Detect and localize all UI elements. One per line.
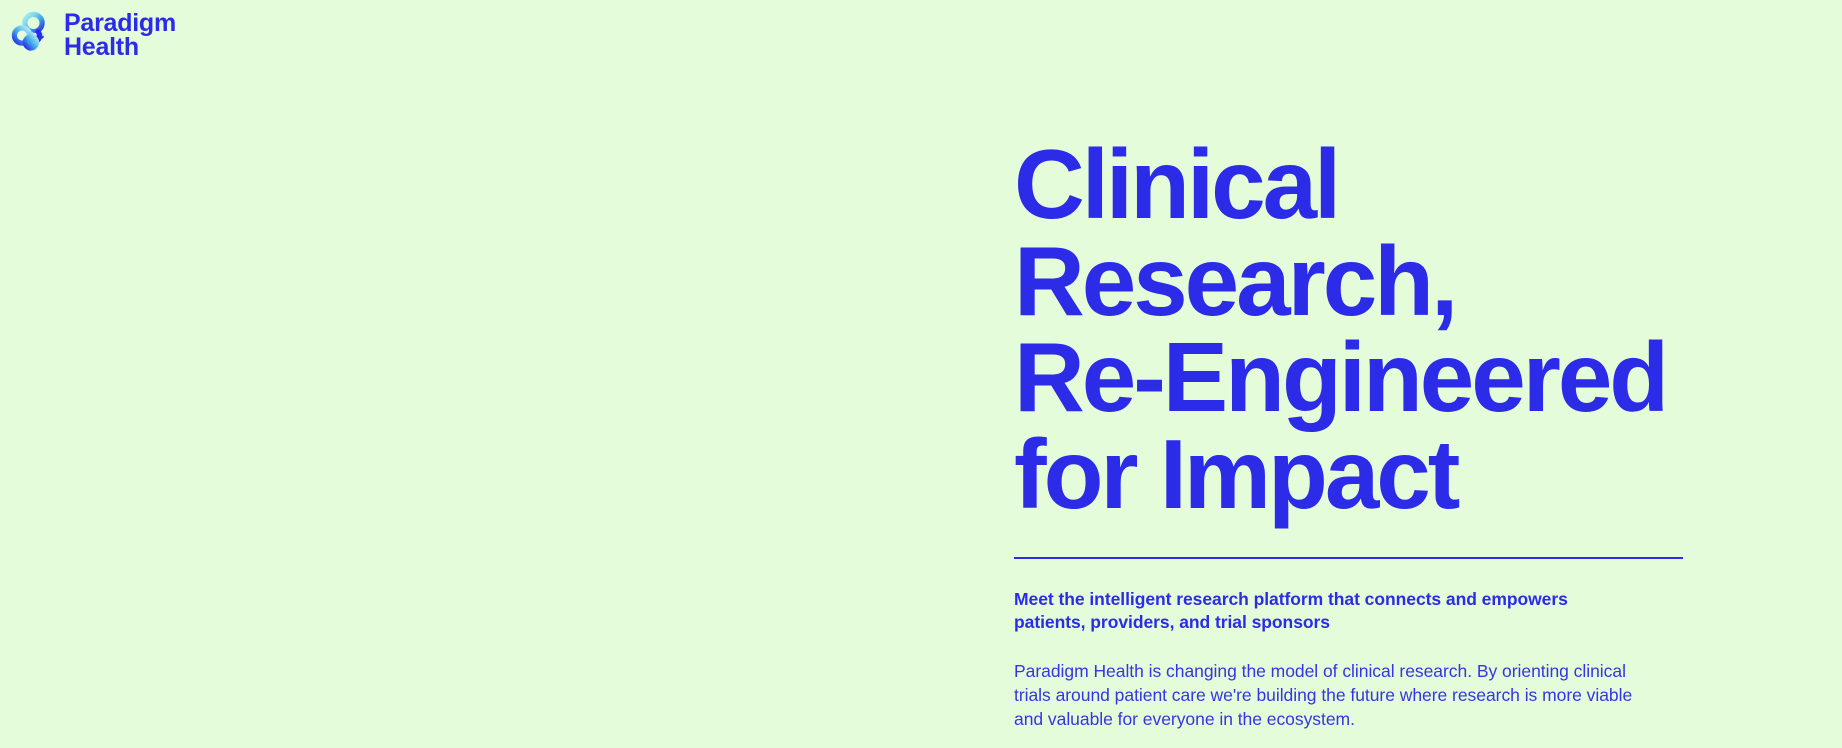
paradigm-knot-mark-icon [8, 10, 54, 60]
logo-lockup[interactable]: Paradigm Health [8, 10, 176, 60]
hero-subheading: Meet the intelligent research platform t… [1014, 588, 1639, 634]
hero-content: Clinical Research, Re-Engineered for Imp… [1014, 136, 1714, 731]
hero-body-paragraph: Paradigm Health is changing the model of… [1014, 659, 1664, 731]
logo-wordmark: Paradigm Health [64, 11, 176, 59]
page-title: Clinical Research, Re-Engineered for Imp… [1014, 136, 1714, 522]
hero-page: Paradigm Health Clinical Research, Re-En… [0, 0, 1842, 748]
hero-divider [1014, 557, 1683, 559]
